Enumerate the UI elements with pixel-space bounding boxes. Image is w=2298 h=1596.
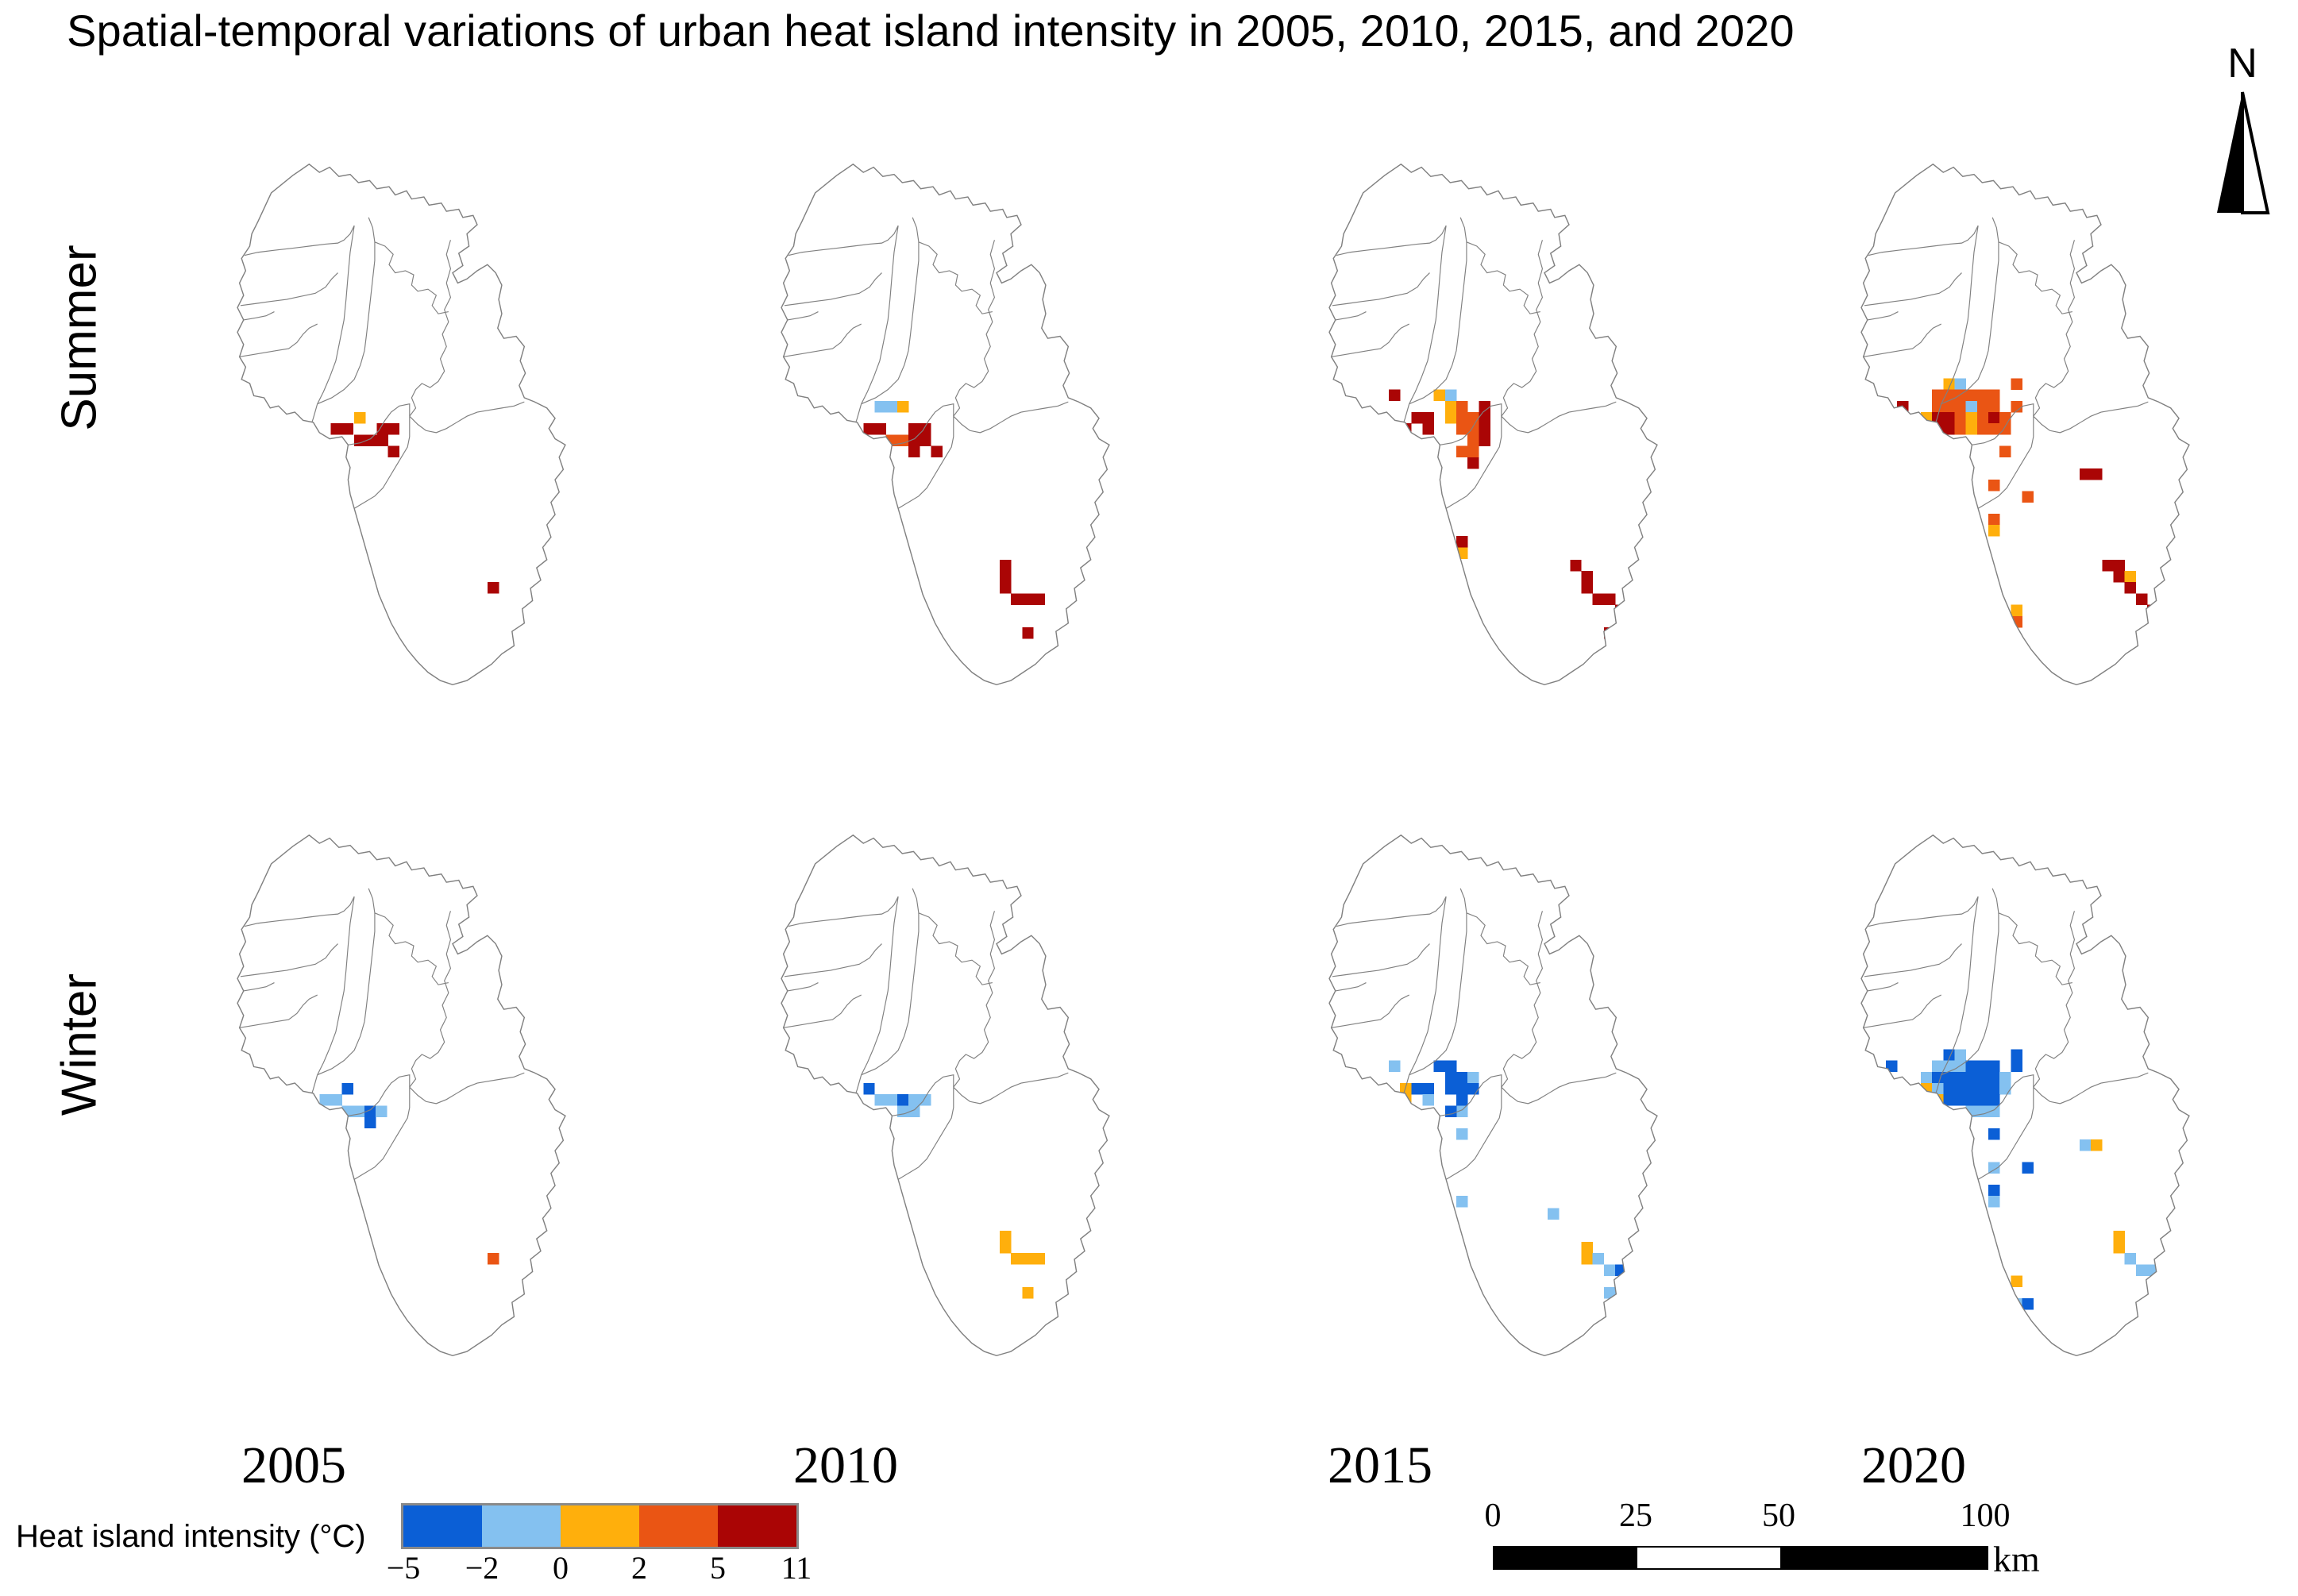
map-svg: [1227, 790, 1735, 1425]
heat-cell: [1456, 1094, 1467, 1105]
heat-cell: [1479, 434, 1490, 445]
heat-cell: [1886, 1061, 1897, 1072]
heat-cell: [1570, 560, 1581, 571]
heat-cell: [1581, 1253, 1592, 1264]
legend-tick-0: −5: [372, 1549, 435, 1586]
heat-cell: [897, 434, 908, 445]
heat-cell: [1988, 1094, 1999, 1105]
map-svg: [1759, 790, 2267, 1425]
map-panel-winter-2020[interactable]: [1759, 790, 2267, 1425]
heat-cell: [1943, 412, 1954, 423]
heat-cell: [388, 423, 399, 434]
heat-cell: [874, 1094, 885, 1105]
heat-cell: [1033, 1253, 1044, 1264]
year-label-2015: 2015: [1237, 1436, 1523, 1496]
heat-cell: [2125, 582, 2136, 593]
heat-cell: [1977, 390, 1988, 401]
heat-cell: [1954, 1061, 1965, 1072]
heat-cell: [1966, 1061, 1977, 1072]
heat-cell: [1445, 1083, 1456, 1094]
heat-cell: [1977, 401, 1988, 412]
heat-cell: [353, 1105, 364, 1116]
map-panel-summer-2015[interactable]: [1227, 119, 1735, 754]
heat-cell: [920, 1094, 931, 1105]
heat-cell: [1999, 423, 2011, 434]
heat-cell: [354, 434, 365, 445]
heat-cell: [1456, 1128, 1467, 1139]
heat-cell: [488, 1253, 499, 1264]
heat-cell: [1943, 1083, 1954, 1094]
heat-cell: [2113, 560, 2124, 571]
heat-cell: [1966, 1094, 1977, 1105]
heat-cell: [886, 1094, 897, 1105]
heat-cell: [2136, 593, 2147, 604]
heat-cell: [2136, 673, 2147, 684]
heat-cell: [1604, 1264, 1615, 1275]
heat-cell: [1581, 571, 1592, 582]
heat-cell: [1604, 627, 1615, 638]
heat-cell: [1467, 1083, 1479, 1094]
heat-cell: [1422, 1083, 1433, 1094]
region-fill: [781, 164, 1109, 684]
heat-cell: [1966, 1083, 1977, 1094]
heat-cell: [2113, 1231, 2124, 1242]
legend-title: Heat island intensity (°C): [16, 1519, 366, 1555]
legend-swatch-2: [561, 1505, 639, 1547]
heat-cell: [1456, 1196, 1467, 1207]
map-svg: [1227, 119, 1735, 754]
year-label-2010: 2010: [703, 1436, 989, 1496]
heat-cell: [1022, 1253, 1033, 1264]
heat-cell: [1954, 1094, 1965, 1105]
heat-cell: [897, 1105, 908, 1116]
heat-cell: [1011, 1253, 1022, 1264]
heat-cell: [1422, 423, 1433, 434]
heat-cell: [2022, 491, 2034, 502]
row-label-winter: Winter: [52, 902, 108, 1188]
heat-cell: [1022, 593, 1033, 604]
heat-cell: [863, 1083, 874, 1094]
region-fill: [237, 835, 565, 1355]
heat-cell: [1000, 571, 1011, 582]
heat-cell: [874, 423, 885, 434]
heat-cell: [1954, 1049, 1965, 1060]
heat-cell: [1954, 1083, 1965, 1094]
heat-cell: [1977, 1083, 1988, 1094]
heat-cell: [1467, 446, 1479, 457]
heat-cell: [2080, 1139, 2091, 1151]
scale-bar-segments: [1493, 1546, 1988, 1570]
heat-cell: [1411, 412, 1422, 423]
heat-cell: [1954, 378, 1965, 389]
scale-bar-segment-1: [1637, 1548, 1780, 1568]
scale-bar-tick-2: 50: [1743, 1497, 1814, 1535]
heat-cell: [1988, 412, 1999, 423]
heat-cell: [1977, 1072, 1988, 1083]
heat-cell: [1921, 1083, 1932, 1094]
heat-cell: [1389, 390, 1400, 401]
heat-cell: [1479, 412, 1490, 423]
region-fill: [1329, 835, 1657, 1355]
heat-cell: [1456, 401, 1467, 412]
legend-color-ramp: [401, 1503, 799, 1549]
heat-cell: [1445, 1105, 1456, 1116]
heat-cell: [1988, 1185, 1999, 1196]
heat-cell: [2011, 1061, 2022, 1072]
heat-cell: [2158, 616, 2169, 627]
heat-cell: [1966, 401, 1977, 412]
heat-cell: [1999, 446, 2011, 457]
region-fill: [237, 164, 565, 684]
heat-cell: [1966, 390, 1977, 401]
heat-cell: [1467, 423, 1479, 434]
heat-cell: [908, 423, 920, 434]
map-panel-winter-2015[interactable]: [1227, 790, 1735, 1425]
scale-bar-tick-3: 100: [1949, 1497, 2021, 1535]
heat-cell: [330, 1094, 341, 1105]
heat-cell: [1548, 1208, 1559, 1219]
scale-bar-unit: km: [1993, 1538, 2040, 1580]
heat-cell: [1456, 412, 1467, 423]
heat-cell: [886, 401, 897, 412]
heat-cell: [1467, 457, 1479, 468]
map-panel-winter-2005[interactable]: [135, 790, 643, 1425]
heat-cell: [1604, 1287, 1615, 1298]
heat-cell: [1954, 1072, 1965, 1083]
year-label-2020: 2020: [1771, 1436, 2057, 1496]
heat-cell: [897, 401, 908, 412]
heat-cell: [377, 434, 388, 445]
heat-cell: [1988, 1061, 1999, 1072]
heat-cell: [1456, 1083, 1467, 1094]
heat-cell: [897, 1094, 908, 1105]
heat-cell: [2011, 605, 2022, 616]
heat-cell: [1988, 390, 1999, 401]
heat-cell: [1593, 593, 1604, 604]
heat-cell: [2011, 378, 2022, 389]
heat-cell: [2125, 1253, 2136, 1264]
heat-cell: [1581, 1242, 1592, 1253]
heat-cell: [376, 1105, 387, 1116]
heat-cell: [1966, 423, 1977, 434]
heat-cell: [908, 446, 920, 457]
heat-cell: [342, 1083, 353, 1094]
legend-swatch-0: [403, 1505, 482, 1547]
map-panel-summer-2010[interactable]: [679, 119, 1187, 754]
heat-cell: [1966, 1072, 1977, 1083]
heat-cell: [1000, 560, 1011, 571]
heat-cell: [1000, 1242, 1011, 1253]
heat-cell: [1954, 401, 1965, 412]
heat-cell: [1954, 412, 1965, 423]
heat-cell: [1434, 1061, 1445, 1072]
map-svg: [1759, 119, 2267, 754]
heat-cell: [1966, 412, 1977, 423]
heat-cell: [2091, 468, 2102, 480]
legend-swatch-3: [639, 1505, 718, 1547]
heat-cell: [908, 1094, 920, 1105]
heat-cell: [1445, 401, 1456, 412]
heat-cell: [342, 423, 353, 434]
heat-cell: [1456, 446, 1467, 457]
map-svg: [679, 119, 1187, 754]
heat-cell: [1921, 412, 1932, 423]
heat-cell: [1434, 390, 1445, 401]
heat-cell: [1456, 1072, 1467, 1083]
legend-tick-labels: −5−202511: [401, 1549, 806, 1586]
heat-cell: [1000, 1231, 1011, 1242]
heat-cell: [1581, 582, 1592, 593]
heat-cell: [1022, 627, 1033, 638]
heat-cell: [1604, 593, 1615, 604]
heat-cell: [920, 434, 931, 445]
heat-cell: [1593, 1253, 1604, 1264]
heat-cell: [1932, 390, 1943, 401]
region-fill: [1329, 164, 1657, 684]
heat-cell: [1033, 593, 1044, 604]
heat-cell: [1456, 536, 1467, 547]
scale-bar-tick-1: 25: [1600, 1497, 1671, 1535]
heat-cell: [1932, 1061, 1943, 1072]
page-title: Spatial-temporal variations of urban hea…: [67, 5, 2242, 56]
heat-cell: [1411, 1083, 1422, 1094]
heat-cell: [1445, 1072, 1456, 1083]
region-fill: [1861, 835, 2189, 1355]
heat-cell: [920, 423, 931, 434]
heat-cell: [2080, 468, 2091, 480]
heat-cell: [388, 446, 399, 457]
heat-cell: [1988, 1083, 1999, 1094]
heat-cell: [1988, 423, 1999, 434]
row-label-summer: Summer: [52, 195, 108, 481]
heat-cell: [1977, 1061, 1988, 1072]
map-svg: [135, 119, 643, 754]
heat-cell: [1954, 423, 1965, 434]
heat-cell: [931, 446, 942, 457]
legend-swatch-4: [718, 1505, 796, 1547]
heat-cell: [1999, 412, 2011, 423]
scale-bar-labels: 02550100: [1469, 1497, 1961, 1536]
heat-cell: [1445, 412, 1456, 423]
heat-cell: [1977, 423, 1988, 434]
map-panel-summer-2005[interactable]: [135, 119, 643, 754]
heat-cell: [2022, 1298, 2034, 1309]
north-arrow-label: N: [2206, 40, 2279, 87]
region-fill: [781, 835, 1109, 1355]
heat-cell: [354, 412, 365, 423]
heat-cell: [1977, 1094, 1988, 1105]
heat-cell: [364, 1117, 376, 1128]
heat-cell: [1479, 423, 1490, 434]
scale-bar-segment-2: [1780, 1548, 1987, 1568]
heat-cell: [1988, 514, 1999, 525]
heat-cell: [1467, 412, 1479, 423]
heat-cell: [2125, 571, 2136, 582]
scale-bar-tick-0: 0: [1457, 1497, 1529, 1535]
legend-tick-5: 11: [765, 1549, 828, 1586]
heat-cell: [1445, 390, 1456, 401]
heat-cell: [2011, 1049, 2022, 1060]
heat-cell: [1000, 582, 1011, 593]
heat-cell: [2113, 571, 2124, 582]
heat-cell: [1022, 1287, 1033, 1298]
heat-cell: [1400, 434, 1411, 445]
heat-cell: [1011, 593, 1022, 604]
year-label-2005: 2005: [151, 1436, 437, 1496]
legend-swatch-1: [482, 1505, 561, 1547]
heat-cell: [1988, 525, 1999, 536]
map-panel-summer-2020[interactable]: [1759, 119, 2267, 754]
heat-cell: [2011, 1276, 2022, 1287]
heat-cell: [1422, 412, 1433, 423]
heat-cell: [330, 423, 341, 434]
heat-cell: [1422, 1094, 1433, 1105]
heat-cell: [1999, 1083, 2011, 1094]
legend-tick-2: 0: [529, 1549, 592, 1586]
heat-cell: [1988, 480, 1999, 491]
heat-cell: [1977, 412, 1988, 423]
region-fill: [1861, 164, 2189, 684]
heat-cell: [2091, 1139, 2102, 1151]
legend-tick-1: −2: [450, 1549, 514, 1586]
heat-cell: [2102, 560, 2113, 571]
heat-cell: [1456, 423, 1467, 434]
legend-tick-3: 2: [607, 1549, 671, 1586]
heat-cell: [1954, 390, 1965, 401]
legend-tick-4: 5: [686, 1549, 750, 1586]
heat-cell: [1467, 1072, 1479, 1083]
scale-bar-segment-0: [1494, 1548, 1637, 1568]
heat-cell: [1921, 1072, 1932, 1083]
heat-cell: [1977, 1105, 1988, 1116]
heat-cell: [2022, 1162, 2034, 1173]
heat-cell: [1445, 1061, 1456, 1072]
heat-cell: [1389, 1061, 1400, 1072]
map-svg: [679, 790, 1187, 1425]
heat-cell: [1988, 401, 1999, 412]
heat-cell: [1999, 1072, 2011, 1083]
heat-cell: [1467, 434, 1479, 445]
heat-cell: [1988, 1196, 1999, 1207]
heat-cell: [1988, 1072, 1999, 1083]
heat-cell: [874, 401, 885, 412]
map-svg: [135, 790, 643, 1425]
heat-cell: [488, 582, 499, 593]
heat-cell: [2136, 1264, 2147, 1275]
map-panel-winter-2010[interactable]: [679, 790, 1187, 1425]
heat-cell: [1988, 1128, 1999, 1139]
heat-cell: [2113, 1242, 2124, 1253]
